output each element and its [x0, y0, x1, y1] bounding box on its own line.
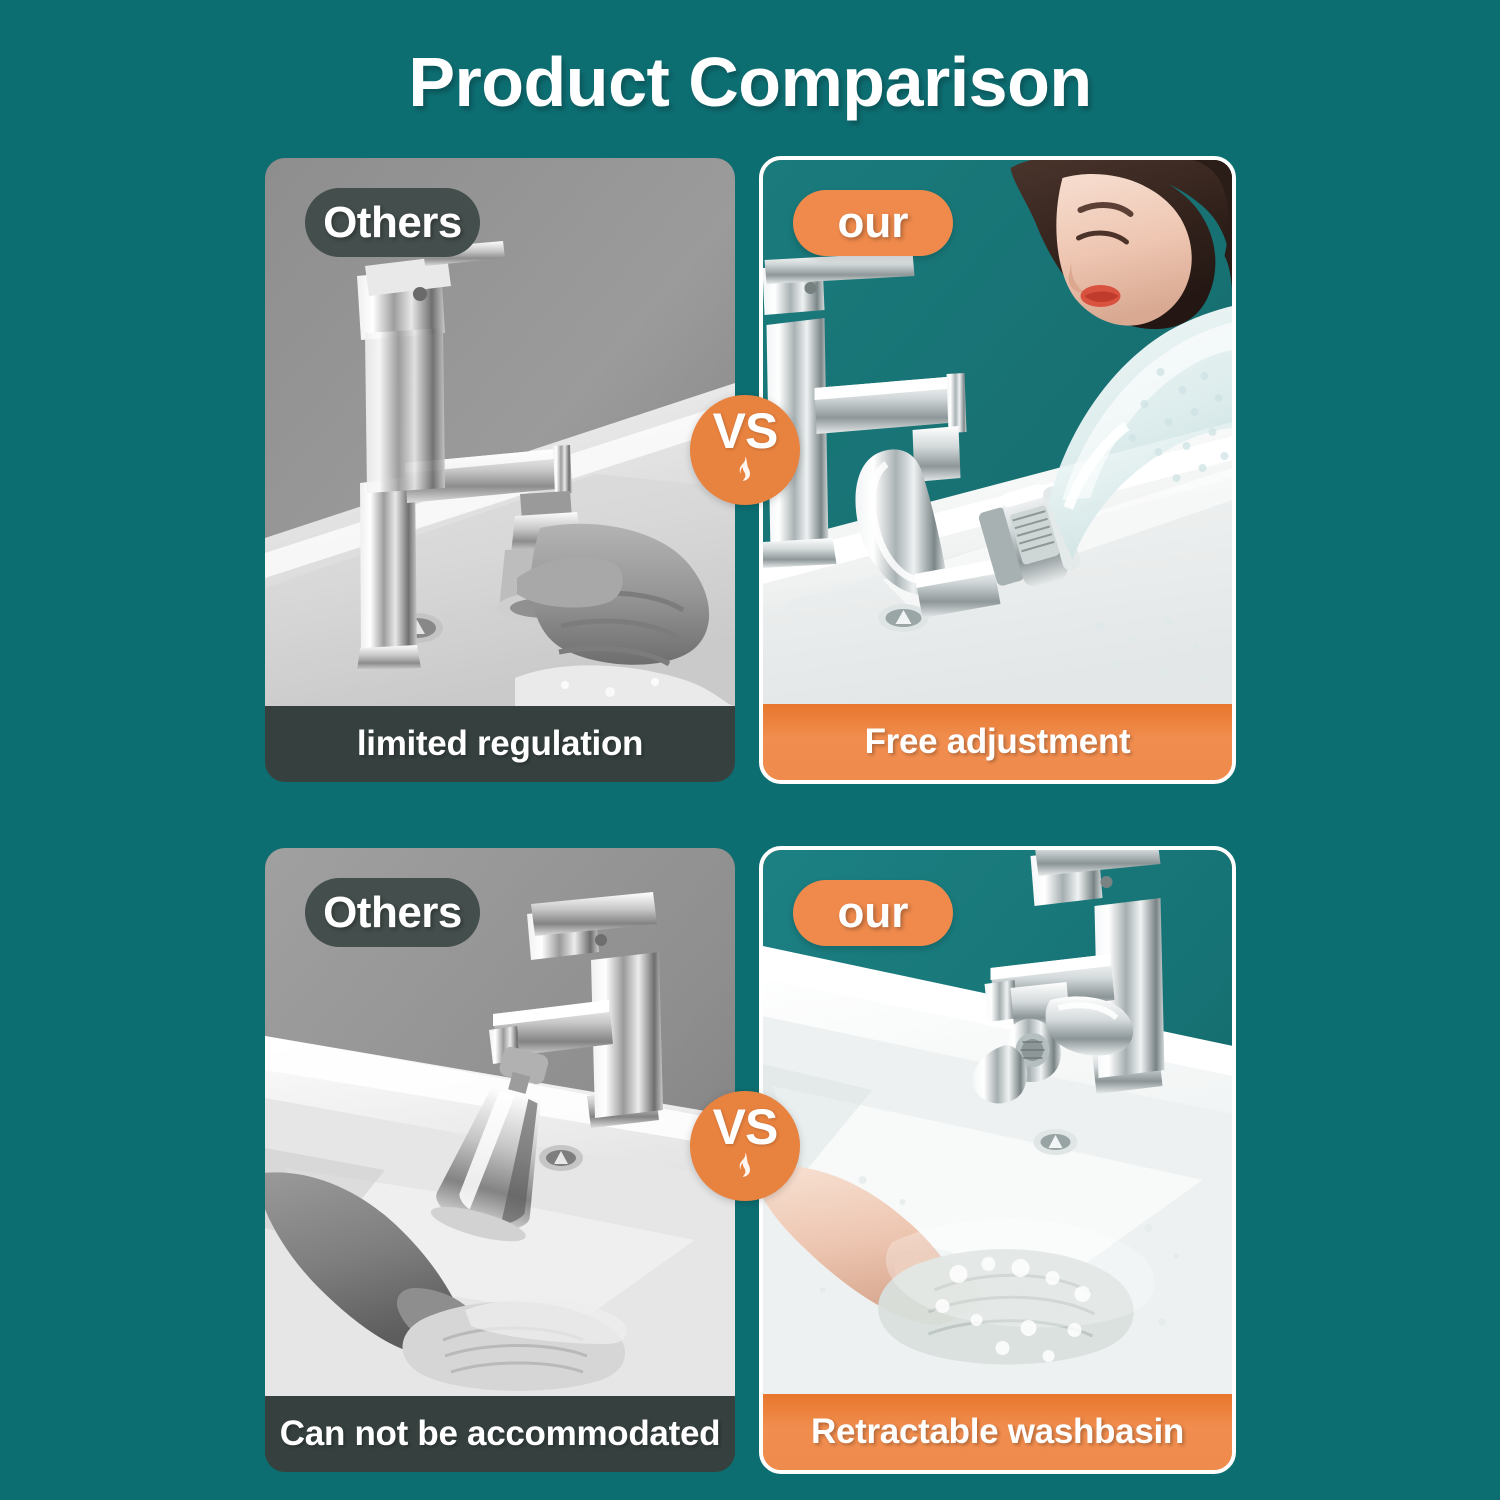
caption-our-row1: Free adjustment [763, 704, 1232, 780]
caption-our-row2: Retractable washbasin [763, 1394, 1232, 1470]
vs-badge-row2: VS [690, 1091, 800, 1201]
comparison-card-our-row2: our Retractable washbasin [759, 846, 1236, 1474]
badge-our-row1: our [793, 190, 953, 256]
vs-badge-row1: VS [690, 395, 800, 505]
flame-icon [732, 1152, 758, 1182]
vs-label-row1: VS [713, 408, 778, 456]
comparison-card-others-row2: Others Can not be accommodated [265, 848, 735, 1472]
badge-others-row1: Others [305, 188, 480, 257]
flame-icon [732, 456, 758, 486]
comparison-card-others-row1: Others limited regulation [265, 158, 735, 782]
page-title: Product Comparison [0, 42, 1500, 122]
caption-others-row2: Can not be accommodated [265, 1396, 735, 1472]
badge-our-row2: our [793, 880, 953, 946]
caption-others-row1: limited regulation [265, 706, 735, 782]
comparison-card-our-row1: our Free adjustment [759, 156, 1236, 784]
vs-label-row2: VS [713, 1104, 778, 1152]
badge-others-row2: Others [305, 878, 480, 947]
